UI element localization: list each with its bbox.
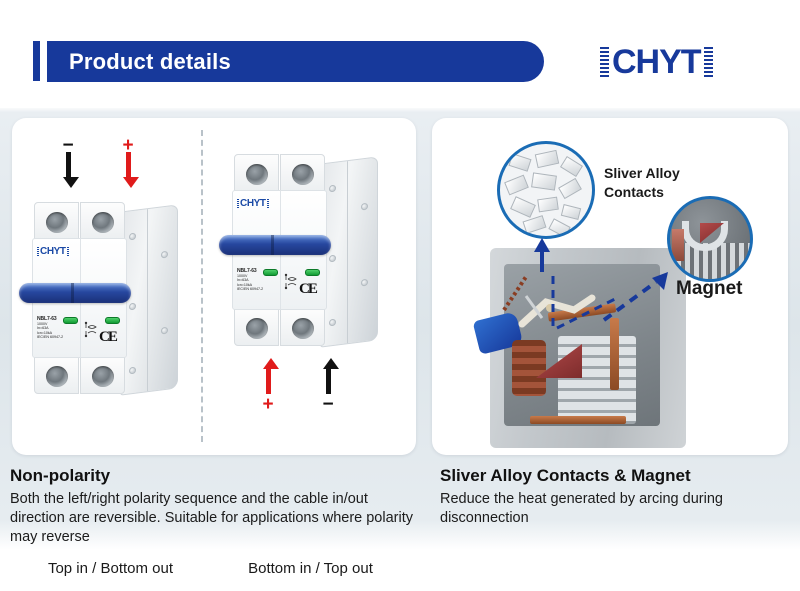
- polarity-arrows-top: − +: [38, 140, 158, 196]
- breaker-caption-bottom-in: Bottom in / Top out: [228, 560, 393, 577]
- terminal-top-right: [280, 154, 325, 192]
- mcb-front-face: CHYT NBL7-63 1000V In=63A Icn=10kA IEC/E…: [232, 154, 332, 346]
- status-led-right: [105, 317, 120, 324]
- leader-line-contacts-icon: [545, 272, 635, 342]
- terminal-top-left: [34, 202, 79, 240]
- status-led-left: [63, 317, 78, 324]
- terminal-top-left: [234, 154, 279, 192]
- contacts-magnet-body: Reduce the heat generated by arcing duri…: [440, 490, 790, 528]
- card-divider: [201, 130, 203, 442]
- mcb-face-plate: CHYT NBL7-63 1000V In=63A Icn=10kA IEC/E…: [232, 190, 327, 310]
- non-polarity-caption: Non-polarity Both the left/right polarit…: [10, 466, 420, 547]
- logo-text: CHYT: [612, 45, 701, 79]
- negative-sign-label: −: [322, 399, 333, 411]
- mcb-front-face: CHYT NBL7-63 1000V In=63A Icn=10kA IEC/E…: [32, 202, 132, 394]
- logo-bars-left-icon: [600, 47, 609, 78]
- negative-sign-label: −: [62, 140, 73, 152]
- ce-mark-icon: CE: [299, 281, 316, 298]
- arrow-up-red-icon: [263, 358, 273, 394]
- page-title: Product details: [47, 49, 231, 75]
- polarity-marker-positive: +: [238, 358, 298, 414]
- mcb-face-plate: CHYT NBL7-63 1000V In=63A Icn=10kA IEC/E…: [32, 238, 127, 358]
- non-polarity-title: Non-polarity: [10, 466, 420, 486]
- mcb-toggle-handle[interactable]: [219, 235, 331, 255]
- contacts-magnet-title: Sliver Alloy Contacts & Magnet: [440, 466, 790, 486]
- terminal-bottom-left: [34, 356, 79, 394]
- breaker-caption-top-in: Top in / Bottom out: [28, 560, 193, 577]
- terminal-bottom-right: [80, 356, 125, 394]
- silver-alloy-contacts-label: Sliver Alloy Contacts: [604, 164, 714, 202]
- mcb-toggle-handle[interactable]: [19, 283, 131, 303]
- mcb-brand-mark: CHYT: [37, 246, 69, 257]
- brand-logo: CHYT: [600, 42, 713, 82]
- magnet-label: Magnet: [676, 278, 743, 300]
- header-banner: Product details: [47, 41, 544, 82]
- header-accent-bar: [33, 41, 40, 81]
- contacts-label-line1: Sliver Alloy: [604, 164, 714, 183]
- product-details-page: Product details CHYT − +: [0, 0, 800, 591]
- mcb-brand-text: CHYT: [240, 198, 266, 209]
- trip-spring: [496, 270, 542, 316]
- ce-mark-icon: CE: [99, 329, 116, 346]
- arc-chute: [558, 336, 636, 424]
- terminal-top-right: [80, 202, 125, 240]
- breaker-bottom-in-illustration: CHYT NBL7-63 1000V In=63A Icn=10kA IEC/E…: [228, 140, 393, 410]
- copper-conductor-lower: [530, 416, 626, 424]
- status-led-left: [263, 269, 278, 276]
- breaker-top-in-illustration: − +: [28, 140, 193, 410]
- mcb-brand-mark: CHYT: [237, 198, 269, 209]
- arrow-up-black-icon: [323, 358, 333, 394]
- positive-sign-label: +: [122, 140, 133, 152]
- contacts-magnet-caption: Sliver Alloy Contacts & Magnet Reduce th…: [440, 466, 790, 528]
- mcb-body: CHYT NBL7-63 1000V In=63A Icn=10kA IEC/E…: [32, 202, 182, 398]
- polarity-marker-positive: +: [98, 140, 158, 196]
- trip-coil: [512, 340, 546, 396]
- polarity-arrows-bottom: + −: [238, 358, 358, 414]
- positive-sign-label: +: [262, 399, 273, 411]
- polarity-marker-negative: −: [38, 140, 98, 196]
- status-led-right: [305, 269, 320, 276]
- terminal-bottom-right: [280, 308, 325, 346]
- silver-alloy-contacts-inset: [497, 141, 595, 239]
- terminal-bottom-left: [234, 308, 279, 346]
- arrow-down-black-icon: [63, 152, 73, 188]
- mcb-brand-text: CHYT: [40, 246, 66, 257]
- mcb-body: CHYT NBL7-63 1000V In=63A Icn=10kA IEC/E…: [232, 154, 382, 350]
- logo-bars-right-icon: [704, 47, 713, 78]
- non-polarity-body: Both the left/right polarity sequence an…: [10, 490, 420, 547]
- arrow-down-red-icon: [123, 152, 133, 188]
- pointer-arrow-to-contacts-icon: [530, 236, 554, 272]
- page-header: Product details CHYT: [0, 0, 800, 108]
- polarity-marker-negative: −: [298, 358, 358, 414]
